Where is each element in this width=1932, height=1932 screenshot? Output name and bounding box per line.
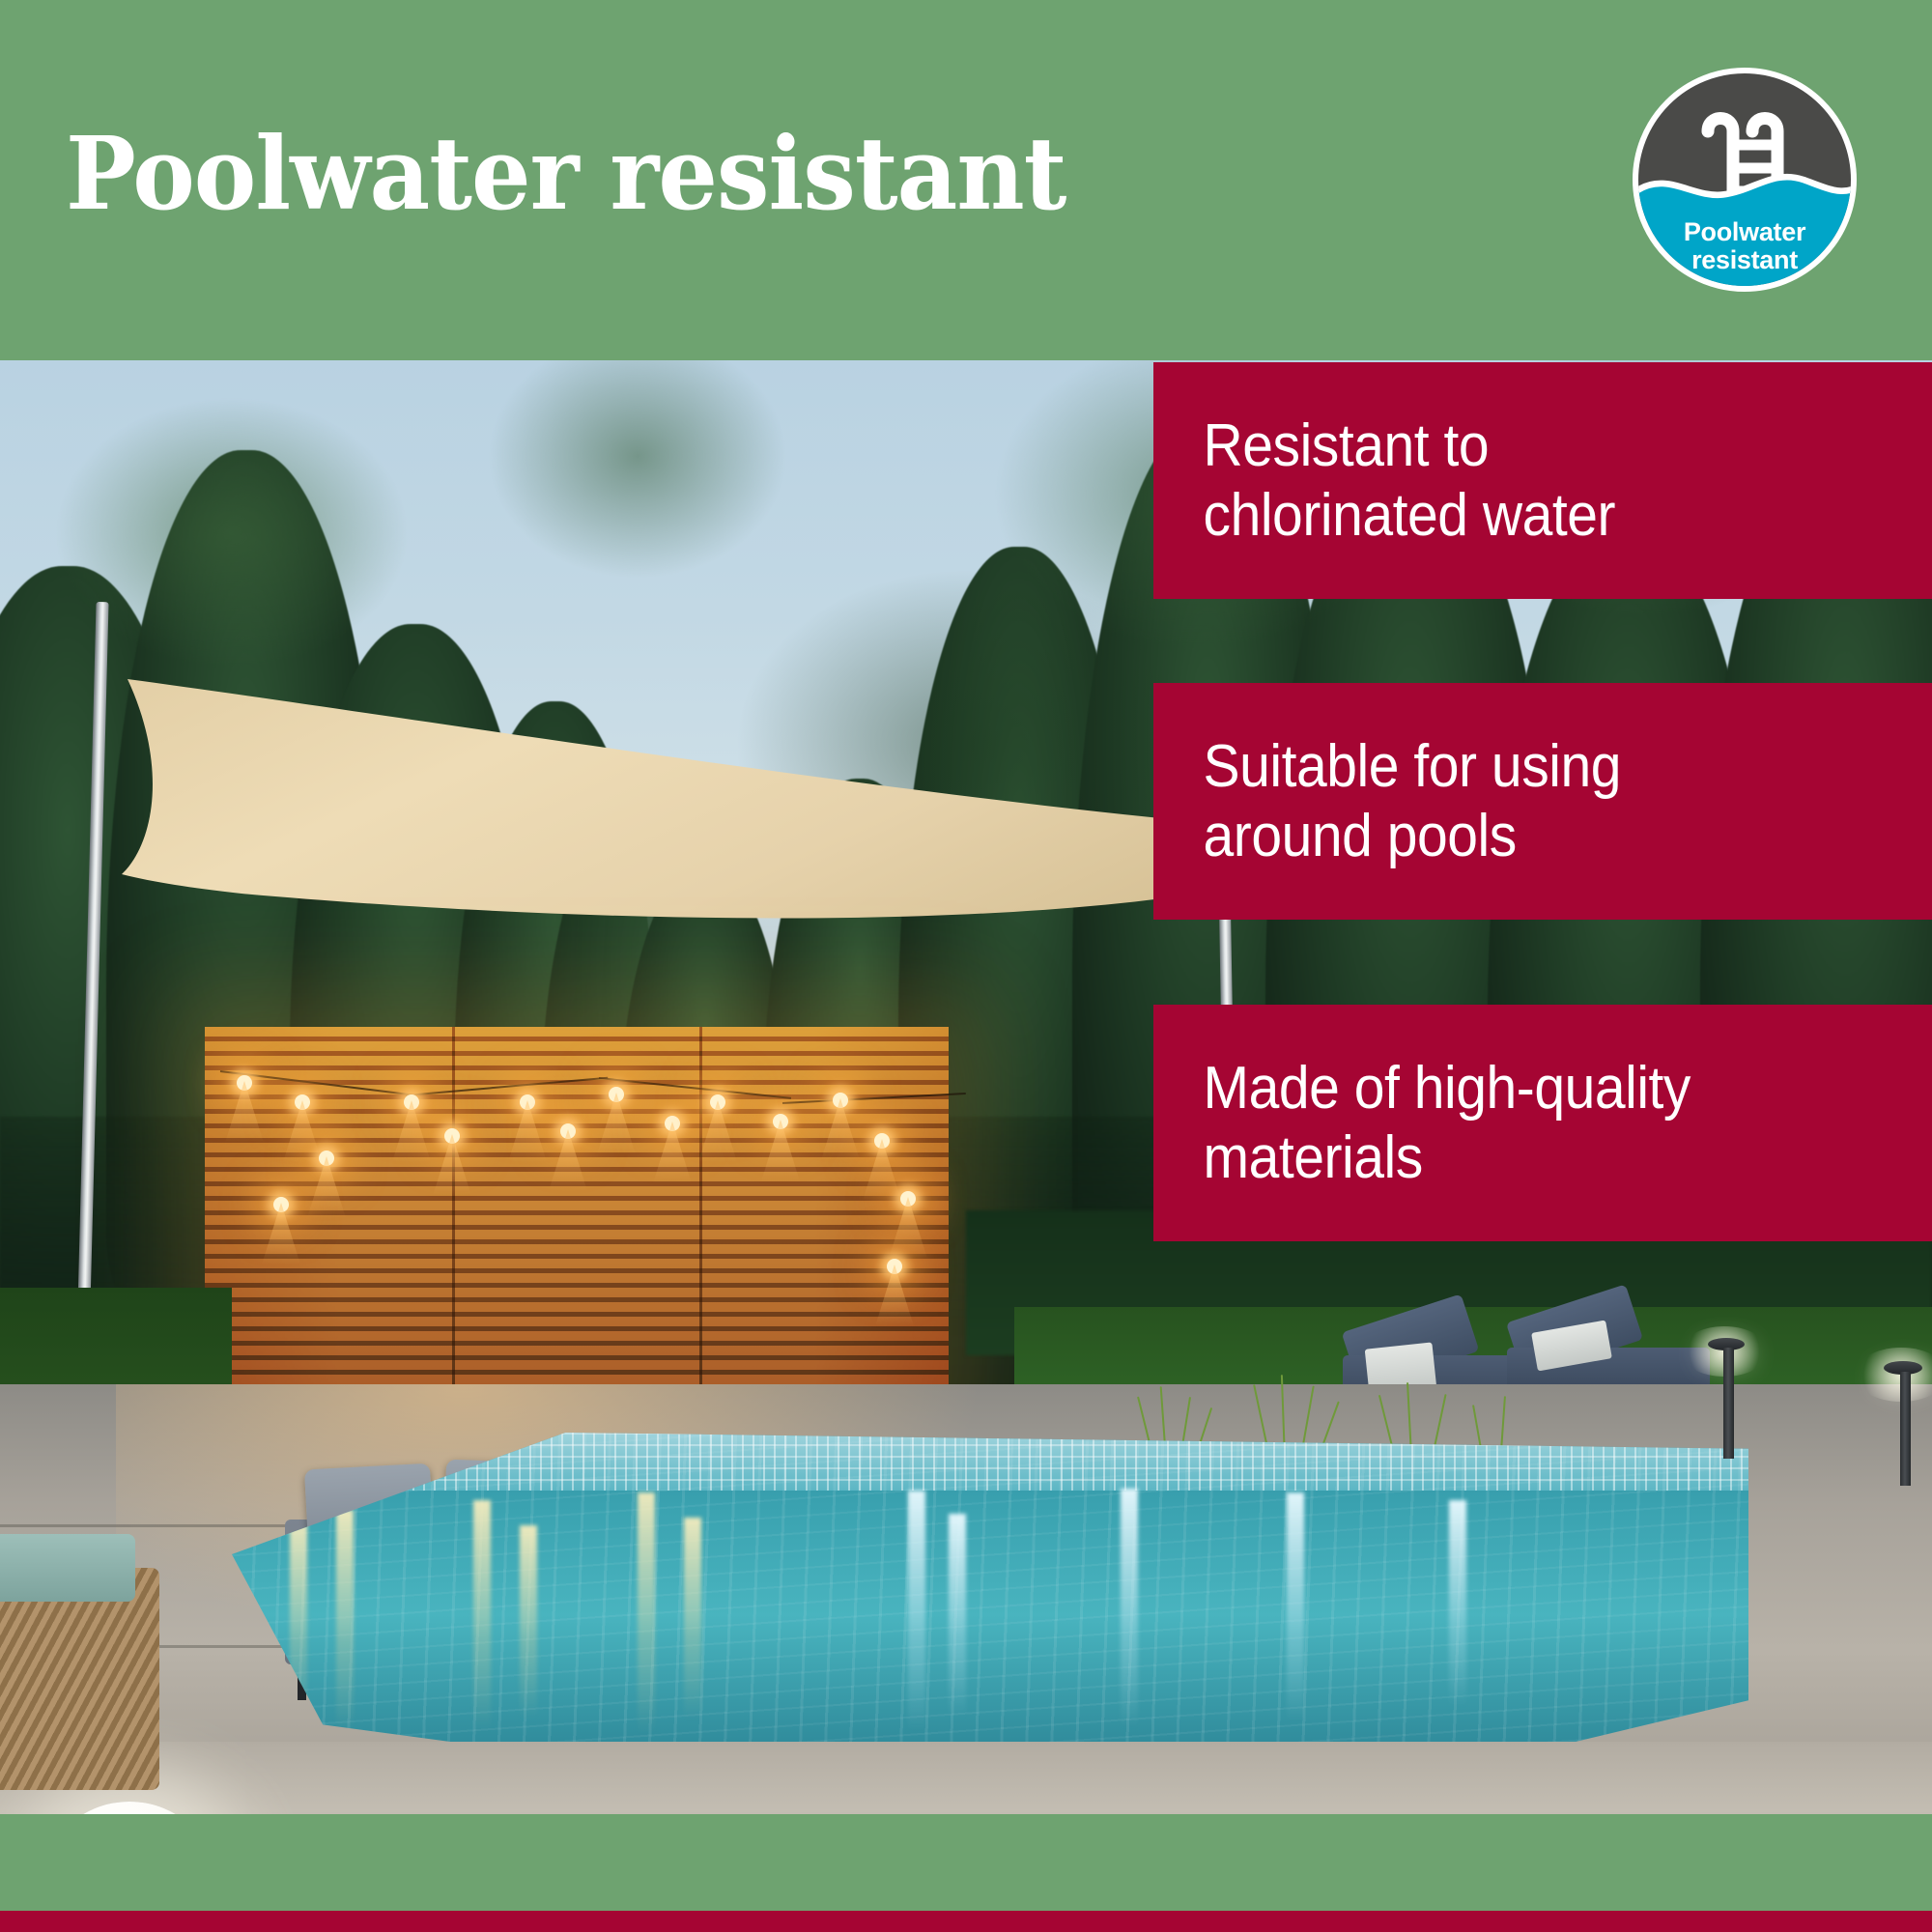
page-title: Poolwater resistant <box>66 124 1065 224</box>
badge-label-line1: Poolwater <box>1638 218 1851 246</box>
feature-text-3: Made of high-quality materials <box>1153 1054 1690 1193</box>
feature-text-2: Suitable for using around pools <box>1153 732 1621 871</box>
feature-panel-1[interactable]: Resistant to chlorinated water <box>1153 362 1932 599</box>
feature-panel-3[interactable]: Made of high-quality materials <box>1153 1005 1932 1241</box>
footer-green-band <box>0 1814 1932 1911</box>
badge-label: Poolwater resistant <box>1638 218 1851 274</box>
feature-text-1: Resistant to chlorinated water <box>1153 412 1615 551</box>
wooden-slat-wall <box>205 1027 949 1433</box>
header-band: Poolwater resistant <box>0 0 1932 360</box>
pool-coping <box>0 1742 1932 1814</box>
poolwater-resistant-badge: Poolwater resistant <box>1633 68 1857 292</box>
badge-label-line2: resistant <box>1638 246 1851 274</box>
feature-panel-2[interactable]: Suitable for using around pools <box>1153 683 1932 920</box>
footer-red-band <box>0 1911 1932 1932</box>
poolwater-resistant-infographic: Poolwater resistant <box>0 0 1932 1932</box>
wicker-cushion <box>0 1534 135 1602</box>
